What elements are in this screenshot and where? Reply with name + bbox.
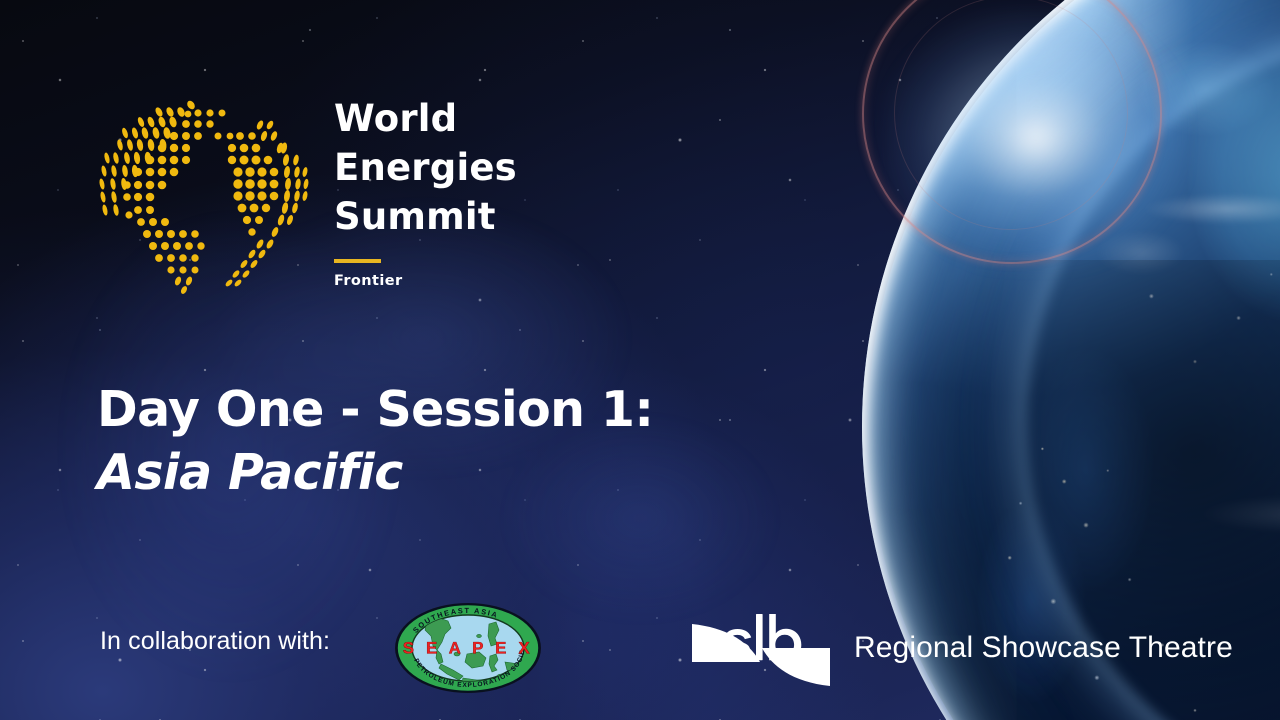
headline-line-2: Asia Pacific — [97, 441, 797, 504]
logo-title-line-3: Summit — [334, 192, 534, 241]
logo-gold-divider — [334, 259, 381, 263]
slb-caption: Regional Showcase Theatre — [854, 631, 1233, 665]
world-energies-summit-wordmark: World Energies Summit Frontier — [334, 94, 534, 289]
logo-title-line-1: World — [334, 94, 534, 143]
presentation-slide: World Energies Summit Frontier Day One -… — [0, 0, 1280, 720]
session-headline: Day One - Session 1: Asia Pacific — [97, 378, 797, 504]
collaboration-label: In collaboration with: — [100, 627, 330, 656]
seapex-wordmark: S E A P E X — [403, 639, 534, 658]
dotted-globe-icon — [92, 84, 314, 296]
logo-title-line-2: Energies — [334, 143, 534, 192]
logo-subtitle: Frontier — [334, 273, 534, 289]
seapex-logo-icon: SOUTHEAST ASIA PETROLEUM EXPLORATION SOC… — [393, 602, 543, 694]
world-energies-summit-logo: World Energies Summit Frontier — [92, 84, 522, 299]
headline-line-1: Day One - Session 1: — [97, 378, 797, 441]
slb-logo-icon — [688, 604, 834, 690]
slb-sponsor-block: Regional Showcase Theatre — [688, 604, 1233, 690]
